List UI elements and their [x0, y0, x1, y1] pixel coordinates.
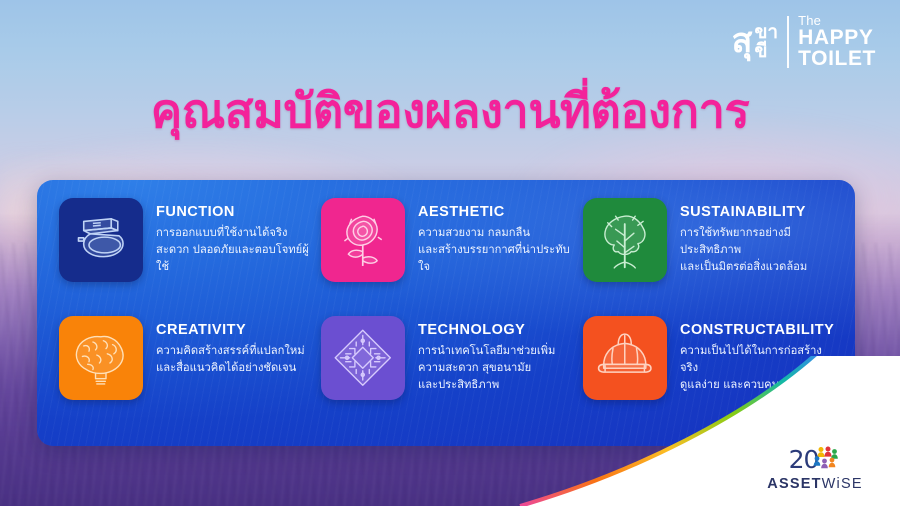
happy-toilet-wordmark: The HAPPY TOILET [798, 14, 876, 69]
circuit-chip-icon [330, 325, 396, 391]
assetwise-logo: 20 ASSETWiSE [750, 444, 880, 492]
feature-card-creativity[interactable]: CREATIVITY ความคิดสร้างสรรค์ที่แปลกใหม่ … [59, 316, 315, 428]
tile-technology [321, 316, 405, 400]
card-desc-sustainability: การใช้ทรัพยากรอย่างมีประสิทธิภาพ และเป็น… [680, 224, 839, 275]
brain-lightbulb-icon [68, 325, 134, 391]
card-title-function: FUNCTION [156, 203, 315, 221]
anniversary-people-icon [811, 445, 841, 471]
logo-word-toilet: TOILET [798, 48, 876, 69]
logo-thai-su: สุ [732, 25, 752, 57]
brand-asset: ASSET [767, 476, 821, 492]
tile-creativity [59, 316, 143, 400]
logo-divider [787, 16, 789, 68]
assetwise-anniversary-mark: 20 [750, 444, 880, 474]
card-text-sustainability: SUSTAINABILITY การใช้ทรัพยากรอย่างมีประส… [680, 198, 839, 275]
feature-card-function[interactable]: FUNCTION การออกแบบที่ใช้งานได้จริง สะดวก… [59, 198, 315, 310]
card-title-aesthetic: AESTHETIC [418, 203, 577, 221]
tile-aesthetic [321, 198, 405, 282]
assetwise-wordmark: ASSETWiSE [750, 476, 880, 492]
card-desc-function: การออกแบบที่ใช้งานได้จริง สะดวก ปลอดภัยแ… [156, 224, 315, 275]
page-title: คุณสมบัติของผลงานที่ต้องการ [0, 86, 900, 138]
card-text-creativity: CREATIVITY ความคิดสร้างสรรค์ที่แปลกใหม่ … [156, 316, 305, 376]
happy-toilet-thai-mark: สุ ขา ขี [732, 23, 778, 60]
logo-thai-khi: ขี [754, 42, 778, 60]
card-text-function: FUNCTION การออกแบบที่ใช้งานได้จริง สะดวก… [156, 198, 315, 275]
slide-canvas: สุ ขา ขี The HAPPY TOILET คุณสมบัติของผล… [0, 0, 900, 506]
feature-card-sustainability[interactable]: SUSTAINABILITY การใช้ทรัพยากรอย่างมีประส… [583, 198, 839, 310]
card-title-constructability: CONSTRUCTABILITY [680, 321, 839, 339]
feature-card-aesthetic[interactable]: AESTHETIC ความสวยงาม กลมกลืน และสร้างบรร… [321, 198, 577, 310]
card-desc-creativity: ความคิดสร้างสรรค์ที่แปลกใหม่ และสื่อแนวค… [156, 342, 305, 376]
card-text-aesthetic: AESTHETIC ความสวยงาม กลมกลืน และสร้างบรร… [418, 198, 577, 275]
card-title-sustainability: SUSTAINABILITY [680, 203, 839, 221]
brand-wise: WiSE [822, 476, 863, 492]
card-title-technology: TECHNOLOGY [418, 321, 555, 339]
tree-icon [592, 207, 658, 273]
tile-sustainability [583, 198, 667, 282]
toilet-icon [68, 207, 134, 273]
tile-function [59, 198, 143, 282]
logo-word-happy: HAPPY [798, 27, 876, 48]
happy-toilet-logo: สุ ขา ขี The HAPPY TOILET [732, 14, 876, 69]
card-title-creativity: CREATIVITY [156, 321, 305, 339]
rose-flower-icon [330, 207, 396, 273]
logo-thai-kha: ขา [754, 23, 778, 41]
logo-thai-stack: ขา ขี [754, 23, 778, 60]
card-desc-aesthetic: ความสวยงาม กลมกลืน และสร้างบรรยากาศที่น่… [418, 224, 577, 275]
